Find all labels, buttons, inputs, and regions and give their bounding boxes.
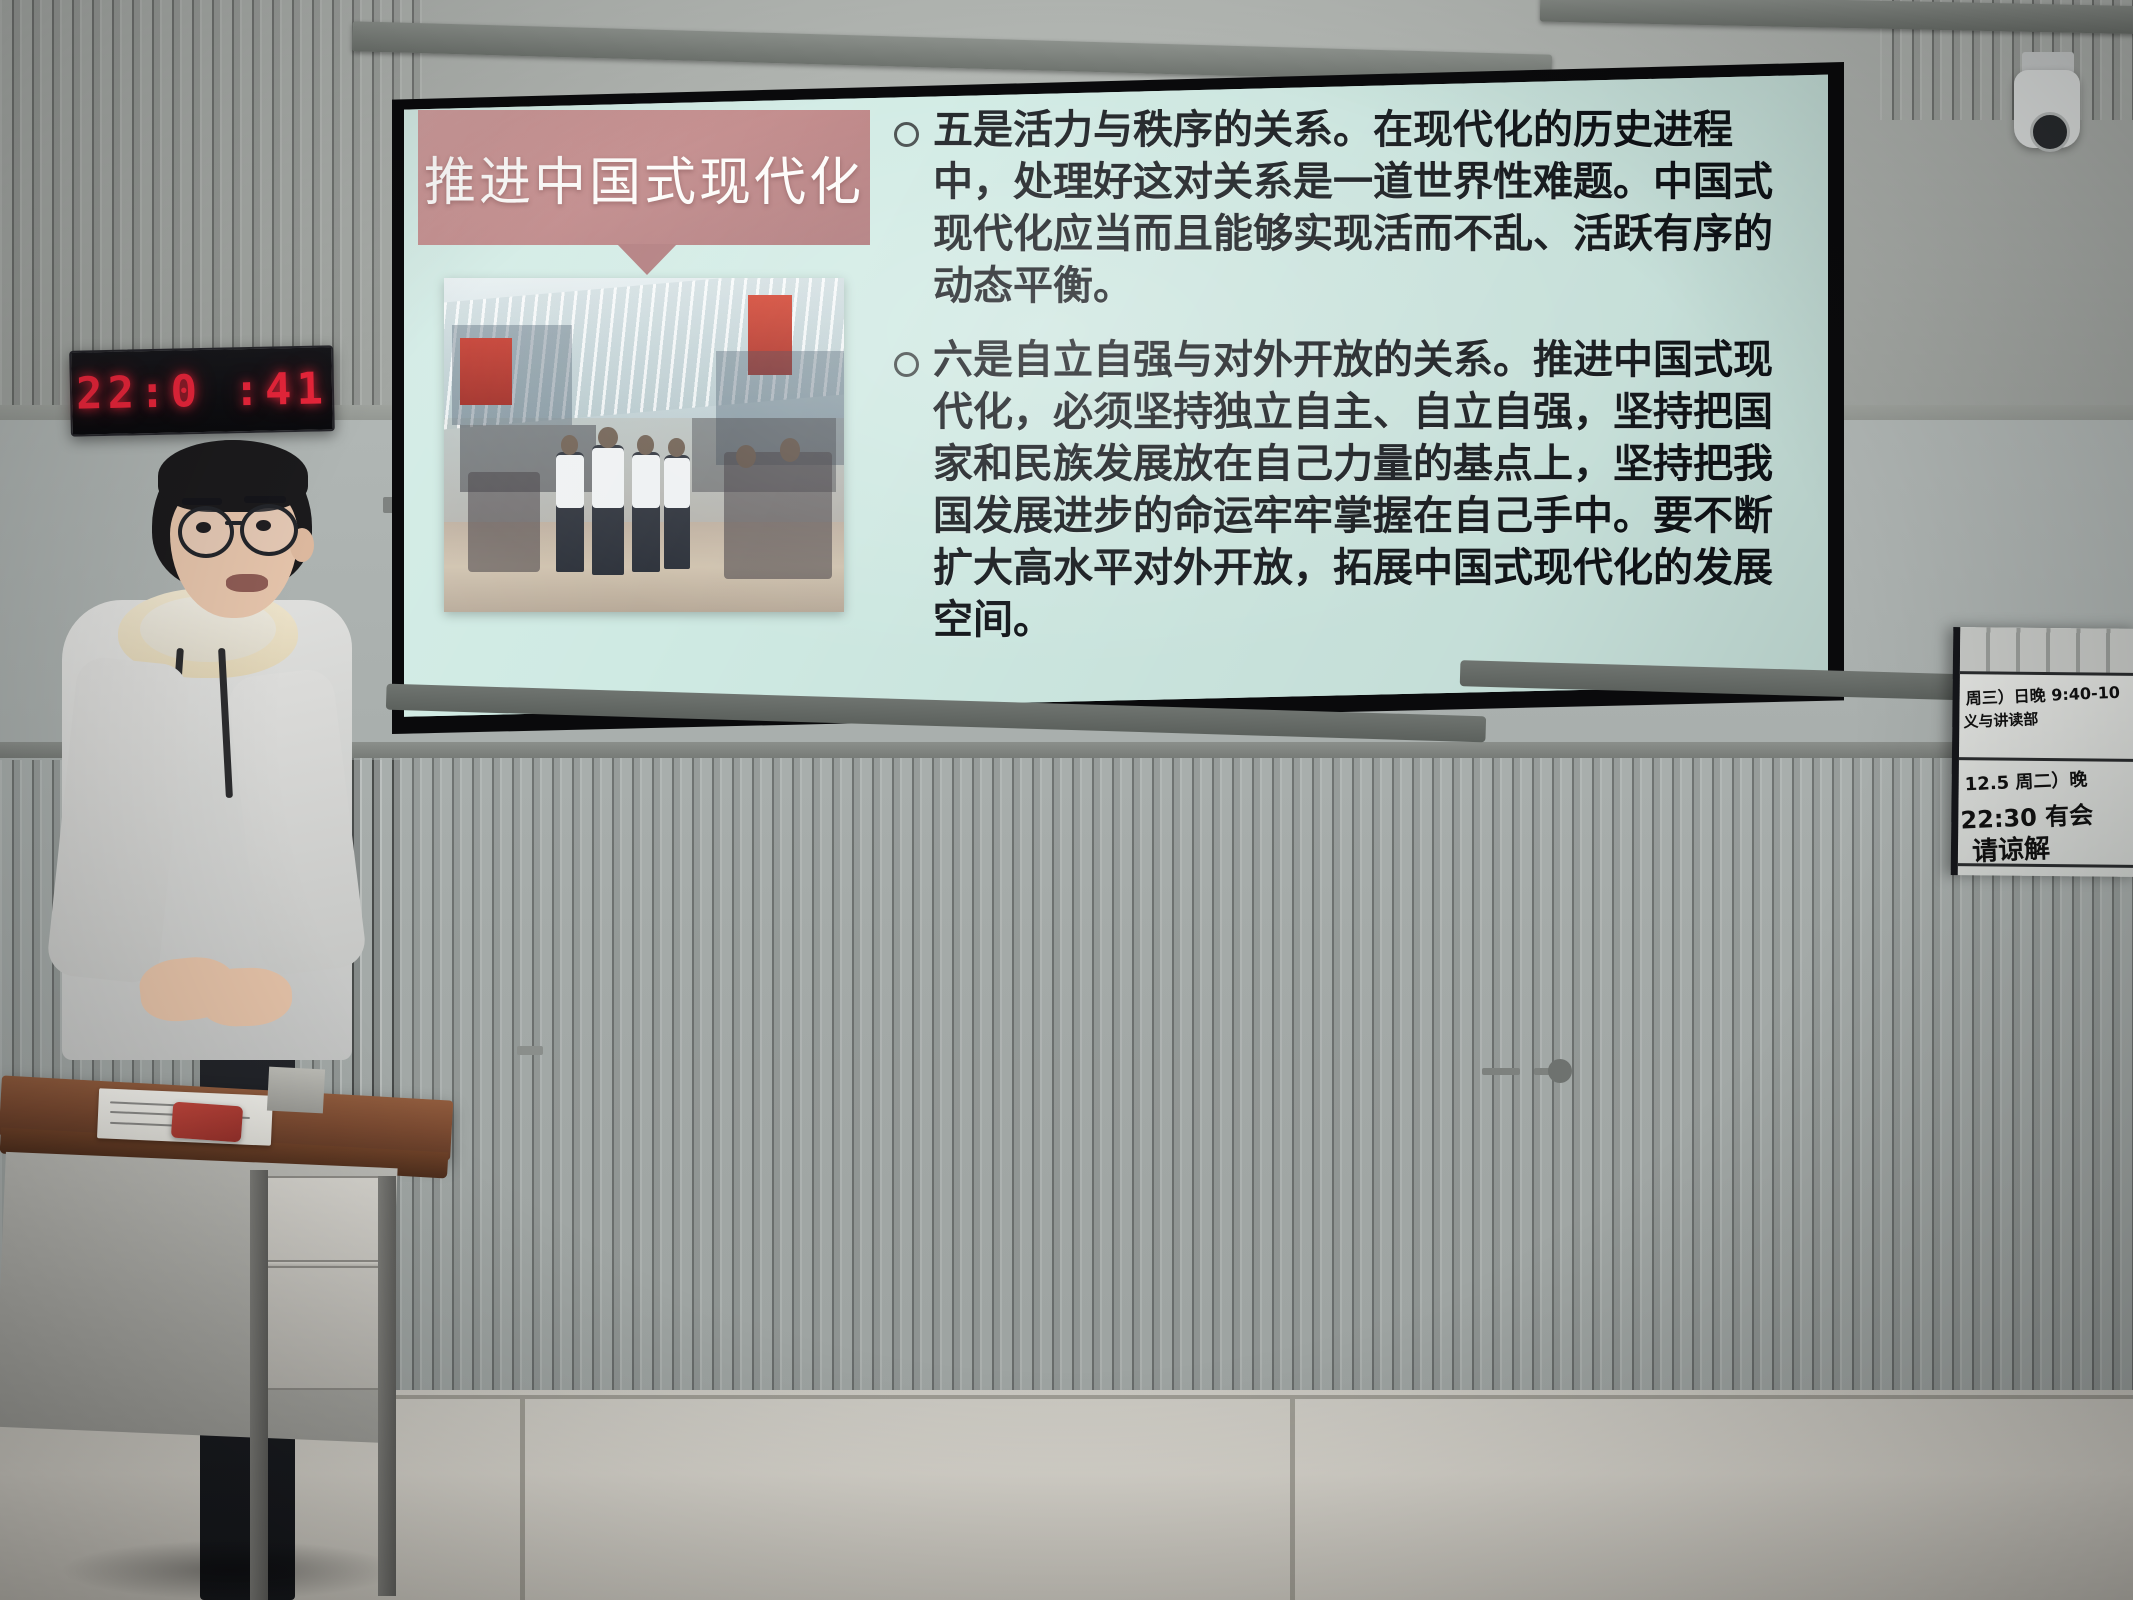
- slide-bullet-2: 六是自立自强与对外开放的关系。推进中国式现代化，必须坚持独立自主、自立自强，坚持…: [894, 334, 1794, 646]
- photo-crowd-right: [724, 452, 832, 579]
- bullet-spacer: [894, 312, 1794, 334]
- board-line-3: 12.5 周二）晚: [1964, 765, 2088, 796]
- floor-seam-3: [1290, 1399, 1295, 1600]
- notice-board: 周三）日晚 9:40-10 义与讲读部 12.5 周二）晚 22:30 有会 请…: [1951, 627, 2133, 877]
- projection-screen-surface: 推进中国式现代化: [404, 72, 1828, 720]
- desk-phone[interactable]: [171, 1102, 243, 1143]
- lectern-leg-left: [250, 1170, 268, 1600]
- board-rule-2: [1959, 757, 2133, 762]
- slide-title: 推进中国式现代化: [424, 140, 864, 215]
- wall-marks: [1482, 1068, 1520, 1075]
- photo-crowd-head-b: [780, 438, 800, 461]
- lectern-leg-right: [378, 1176, 396, 1596]
- presenter-glasses-bridge: [225, 521, 243, 525]
- board-top-trim: [1960, 627, 2133, 673]
- presenter-glasses-right-lens: [240, 504, 298, 556]
- slide-bullet-1-text: 五是活力与秩序的关系。在现代化的历史进程中，处理好这对关系是一道世界性难题。中国…: [933, 104, 1794, 312]
- classroom-photo-scene: 推进中国式现代化: [0, 0, 2133, 1600]
- slide-bullet-2-text: 六是自立自强与对外开放的关系。推进中国式现代化，必须坚持独立自主、自立自强，坚持…: [933, 334, 1794, 646]
- bullet-circle-icon: [894, 352, 919, 377]
- board-rule-1: [1960, 671, 2133, 676]
- lectern-shelf-divider: [262, 1260, 386, 1268]
- photo-person-3-shirt: [632, 455, 660, 508]
- lectern-shelf: [256, 1176, 392, 1390]
- slide-title-banner: 推进中国式现代化: [418, 110, 870, 245]
- presenter-brow-left: [182, 498, 222, 505]
- wall-bracket: [1548, 1059, 1572, 1083]
- wall-hook-mid: [517, 1046, 543, 1055]
- photo-person-2-head: [598, 427, 618, 449]
- presenter-brow-right: [244, 496, 286, 503]
- slide-body-column: 五是活力与秩序的关系。在现代化的历史进程中，处理好这对关系是一道世界性难题。中国…: [894, 104, 1794, 646]
- board-line-5: 请谅解: [1971, 828, 2050, 868]
- photo-person-4-shirt: [664, 458, 690, 508]
- board-line-2: 义与讲读部: [1963, 708, 2039, 732]
- slide-photo: 街道商铺考察照片: [444, 278, 844, 612]
- camera-lens-icon: [2030, 112, 2070, 152]
- photo-person-4-head: [668, 438, 685, 457]
- slide-bullet-1: 五是活力与秩序的关系。在现代化的历史进程中，处理好这对关系是一道世界性难题。中国…: [894, 104, 1794, 312]
- desk-side-block: [267, 1067, 325, 1114]
- bullet-circle-icon: [894, 122, 919, 147]
- presenter-shadow: [60, 1540, 400, 1600]
- photo-person-2-shirt: [592, 448, 624, 508]
- photo-person-1-shirt: [556, 455, 584, 508]
- board-line-1: 周三）日晚 9:40-10: [1965, 679, 2120, 709]
- floor-seam-2: [520, 1399, 525, 1600]
- presenter-eye-right: [256, 520, 271, 531]
- presenter-mouth: [226, 574, 268, 592]
- presenter-eye-left: [196, 522, 211, 533]
